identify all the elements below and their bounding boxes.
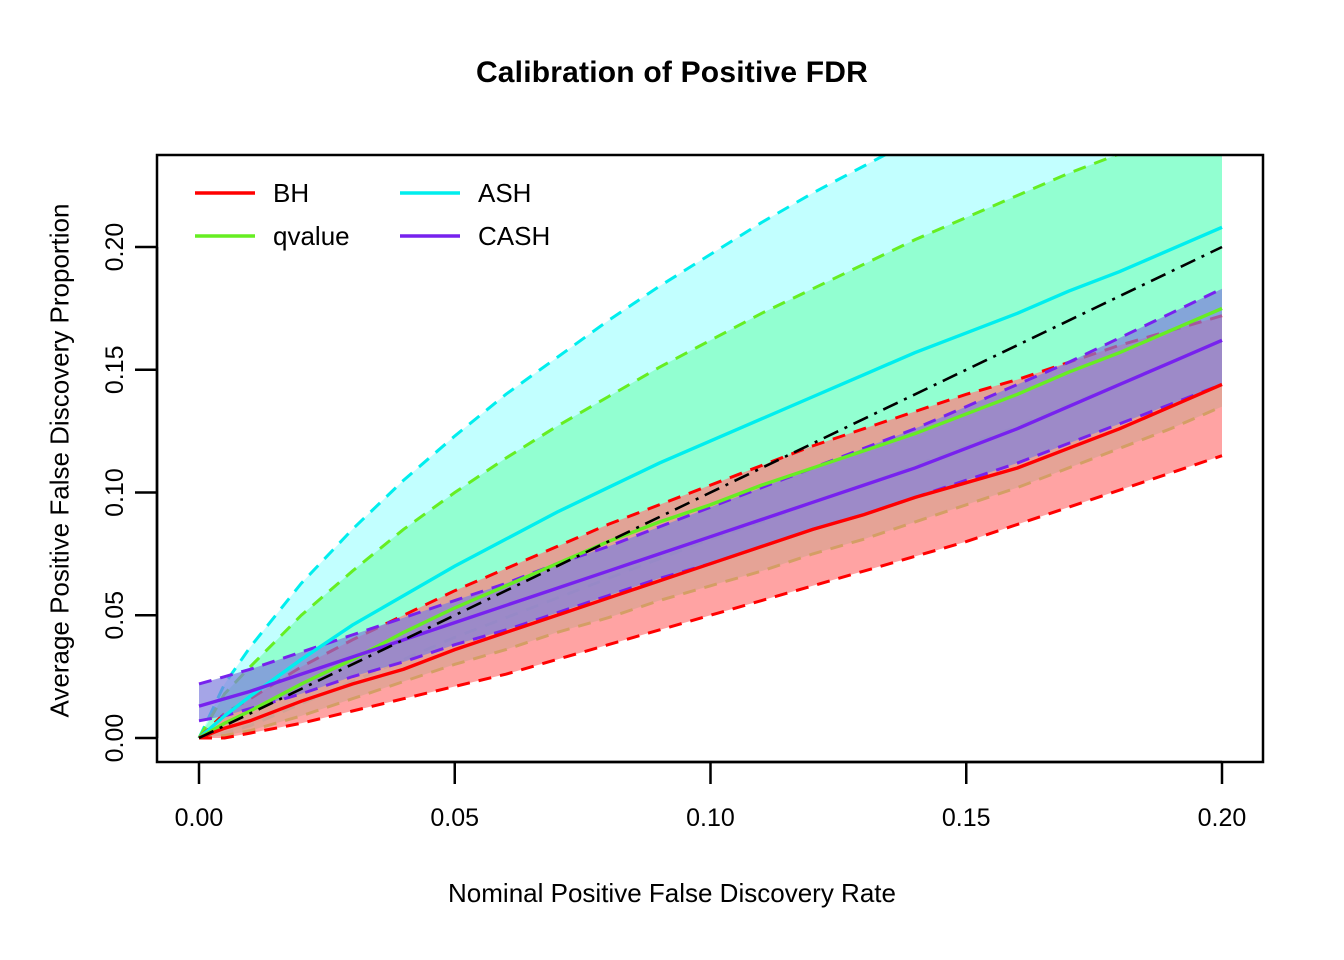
x-tick-label: 0.00 — [175, 804, 224, 832]
confidence-bands — [199, 0, 1222, 738]
y-tick-label: 0.20 — [101, 223, 129, 272]
legend-label-bh: BH — [273, 178, 309, 208]
y-tick-label: 0.00 — [101, 714, 129, 763]
legend-label-ash: ASH — [478, 178, 531, 208]
y-tick-label: 0.15 — [101, 345, 129, 394]
chart-canvas: Calibration of Positive FDR 0.000.050.10… — [0, 0, 1344, 960]
plot-figure: 0.000.050.100.150.200.000.050.100.150.20… — [0, 0, 1344, 960]
legend-label-qvalue: qvalue — [273, 221, 350, 251]
x-tick-label: 0.20 — [1198, 804, 1247, 832]
x-tick-label: 0.10 — [686, 804, 735, 832]
y-axis-label: Average Positive False Discovery Proport… — [45, 141, 76, 781]
legend: BHqvalueASHCASH — [195, 178, 550, 251]
y-tick-label: 0.05 — [101, 591, 129, 640]
x-tick-label: 0.15 — [942, 804, 991, 832]
y-tick-label: 0.10 — [101, 468, 129, 517]
x-tick-label: 0.05 — [430, 804, 479, 832]
legend-label-cash: CASH — [478, 221, 550, 251]
x-axis-label: Nominal Positive False Discovery Rate — [0, 878, 1344, 909]
